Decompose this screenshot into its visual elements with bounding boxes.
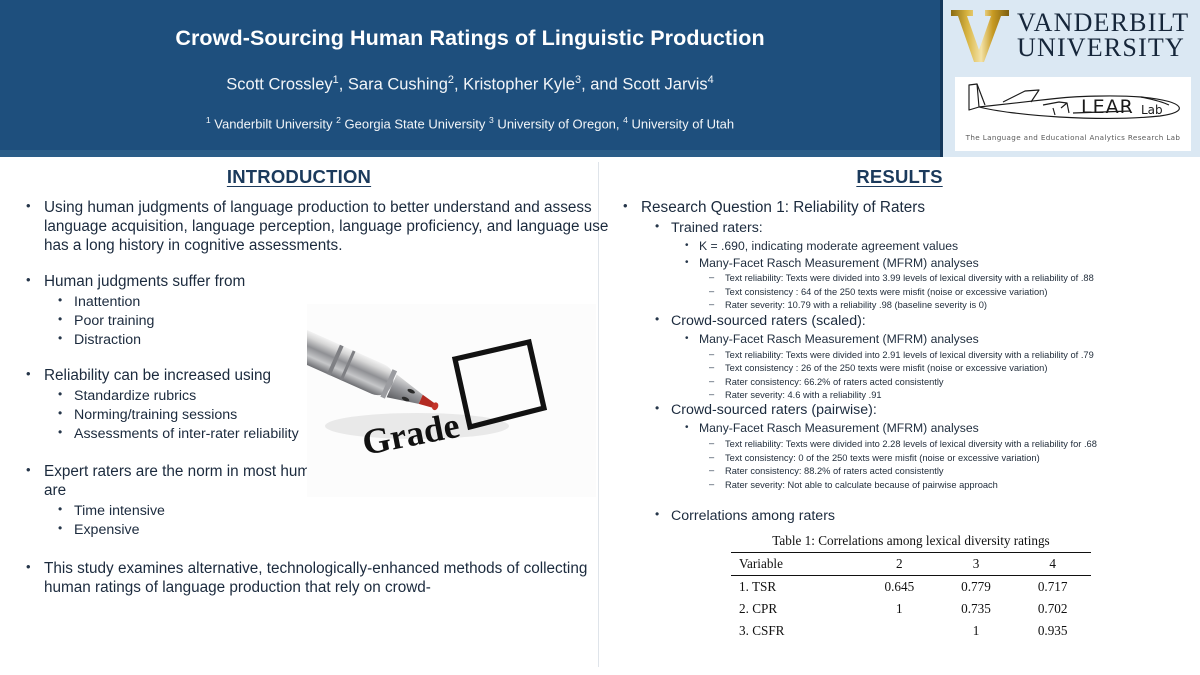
list-item: Text reliability: Texts were divided int… <box>611 438 1188 451</box>
list-item: Using human judgments of language produc… <box>14 199 612 255</box>
list-item: Rater severity: 10.79 with a reliability… <box>611 299 1188 312</box>
list-item: K = .690, indicating moderate agreement … <box>611 239 1188 255</box>
list-item: Text consistency : 64 of the 250 texts w… <box>611 286 1188 299</box>
list-item: Reliability can be increased using <box>14 367 344 386</box>
list-item: Time intensive <box>14 503 642 521</box>
spacer <box>14 541 584 560</box>
vanderbilt-line2: UNIVERSITY <box>1017 36 1189 61</box>
correlations-table: Variable 2 3 4 1. TSR 0.645 0.779 0.717 … <box>731 552 1091 642</box>
list-item: Text consistency: 0 of the 250 texts wer… <box>611 452 1188 465</box>
poster-body: INTRODUCTION Using human judgments of la… <box>0 157 1200 675</box>
table-cell-variable: 1. TSR <box>731 575 861 598</box>
header-title-block: Crowd-Sourcing Human Ratings of Linguist… <box>0 0 940 150</box>
table-cell: 0.702 <box>1014 598 1091 620</box>
results-bullet-list: Research Question 1: Reliability of Rate… <box>611 199 1188 492</box>
table-cell: 0.717 <box>1014 575 1091 598</box>
results-column: RESULTS Research Question 1: Reliability… <box>599 157 1200 675</box>
table-cell: 0.779 <box>938 575 1015 598</box>
author-list: Scott Crossley1, Sara Cushing2, Kristoph… <box>0 52 940 95</box>
table-col-header: 4 <box>1014 552 1091 575</box>
table-col-header: 3 <box>938 552 1015 575</box>
study-bullet-list: This study examines alternative, technol… <box>14 560 584 598</box>
page-title: Crowd-Sourcing Human Ratings of Linguist… <box>0 0 940 52</box>
table-caption: Table 1: Correlations among lexical dive… <box>731 533 1091 549</box>
logo-panel: VANDERBILT UNIVERSITY LEAR Lab The Langu… <box>940 0 1200 157</box>
list-item: This study examines alternative, technol… <box>14 560 612 598</box>
list-item: Rater consistency: 66.2% of raters acted… <box>611 376 1188 389</box>
correlations-bullet-list: Correlations among raters <box>611 508 1188 526</box>
table-header-row: Variable 2 3 4 <box>731 552 1091 575</box>
table-body: 1. TSR 0.645 0.779 0.717 2. CPR 1 0.735 … <box>731 575 1091 642</box>
vanderbilt-wordmark: VANDERBILT UNIVERSITY <box>1017 11 1189 61</box>
correlations-table-wrapper: Table 1: Correlations among lexical dive… <box>731 533 1091 642</box>
affiliation-list: 1 Vanderbilt University 2 Georgia State … <box>0 94 940 131</box>
list-item: Text consistency : 26 of the 250 texts w… <box>611 362 1188 375</box>
lear-jet-icon: LEAR Lab <box>955 77 1191 135</box>
list-item: Text reliability: Texts were divided int… <box>611 349 1188 362</box>
table-cell <box>861 620 938 642</box>
table-cell: 1 <box>861 598 938 620</box>
vanderbilt-v-icon <box>949 6 1011 66</box>
list-item: Crowd-sourced raters (pairwise): <box>611 402 1188 420</box>
list-item: Research Question 1: Reliability of Rate… <box>611 199 1188 218</box>
table-cell: 0.735 <box>938 598 1015 620</box>
list-item: Many-Facet Rasch Measurement (MFRM) anal… <box>611 332 1188 348</box>
list-item: Crowd-sourced raters (scaled): <box>611 313 1188 331</box>
table-cell: 0.935 <box>1014 620 1091 642</box>
intro-bullet-list: Using human judgments of language produc… <box>14 199 584 255</box>
table-head: Variable 2 3 4 <box>731 552 1091 575</box>
table-row: 2. CPR 1 0.735 0.702 <box>731 598 1091 620</box>
section-heading-results: RESULTS <box>611 166 1188 188</box>
table-row: 1. TSR 0.645 0.779 0.717 <box>731 575 1091 598</box>
list-item: Human judgments suffer from <box>14 273 344 292</box>
list-item: Many-Facet Rasch Measurement (MFRM) anal… <box>611 256 1188 272</box>
grade-photo: Grade <box>307 304 596 497</box>
lear-lab-logo: LEAR Lab The Language and Educational An… <box>955 77 1191 151</box>
svg-text:Lab: Lab <box>1141 103 1163 117</box>
vanderbilt-logo: VANDERBILT UNIVERSITY <box>943 2 1200 70</box>
table-cell-variable: 2. CPR <box>731 598 861 620</box>
list-item: Trained raters: <box>611 220 1188 238</box>
table-cell: 1 <box>938 620 1015 642</box>
list-item: Expensive <box>14 522 642 540</box>
list-item: Rater consistency: 88.2% of raters acted… <box>611 465 1188 478</box>
list-item: Many-Facet Rasch Measurement (MFRM) anal… <box>611 421 1188 437</box>
list-item: Rater severity: 4.6 with a reliability .… <box>611 389 1188 402</box>
list-item: Rater severity: Not able to calculate be… <box>611 479 1188 492</box>
grade-photo-illustration: Grade <box>307 304 596 497</box>
spacer <box>611 492 1188 508</box>
list-item: Text reliability: Texts were divided int… <box>611 272 1188 285</box>
list-item: Correlations among raters <box>611 508 1188 526</box>
section-heading-introduction: INTRODUCTION <box>14 166 584 188</box>
svg-text:LEAR: LEAR <box>1081 96 1134 118</box>
spacer <box>14 257 584 273</box>
lear-caption: The Language and Educational Analytics R… <box>955 133 1191 142</box>
table-row: 3. CSFR 1 0.935 <box>731 620 1091 642</box>
table-cell: 0.645 <box>861 575 938 598</box>
table-col-header: Variable <box>731 552 861 575</box>
table-col-header: 2 <box>861 552 938 575</box>
table-cell-variable: 3. CSFR <box>731 620 861 642</box>
